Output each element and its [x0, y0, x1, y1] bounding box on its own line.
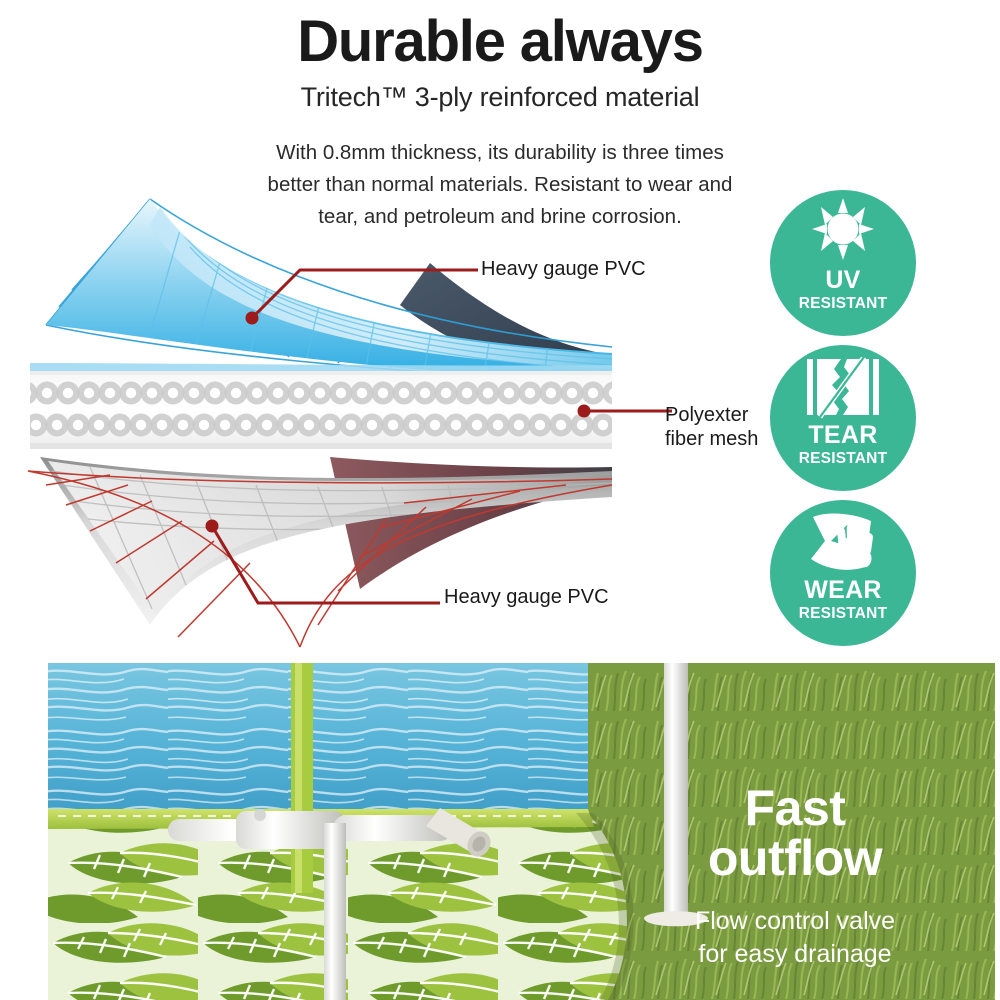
photo-overlay-subtitle-line2: for easy drainage: [615, 938, 975, 971]
badge-wear-resistant: WEAR RESISTANT: [770, 500, 916, 646]
hand-wiping-cloth-icon: [770, 506, 916, 580]
photo-overlay-subtitle: Flow control valve for easy drainage: [615, 905, 975, 970]
material-cross-section-diagram: [0, 185, 770, 655]
photo-overlay-title-line2: outflow: [615, 833, 975, 883]
callout-label-bottom-pvc: Heavy gauge PVC: [444, 586, 609, 610]
sun-icon: [770, 196, 916, 270]
badge-subtitle: RESISTANT: [799, 450, 888, 467]
badge-subtitle: RESISTANT: [799, 605, 888, 622]
badge-tear-resistant: TEAR RESISTANT: [770, 345, 916, 491]
fiber-mesh-bottom-edge: [30, 443, 612, 449]
pool-vertical-leg-center: [324, 823, 346, 1000]
callout-dot-middle: [578, 405, 591, 418]
page-subtitle: Tritech™ 3-ply reinforced material: [0, 82, 1000, 113]
callout-label-top-pvc: Heavy gauge PVC: [481, 258, 646, 282]
photo-overlay-subtitle-line1: Flow control valve: [615, 905, 975, 938]
badge-title: TEAR: [808, 423, 877, 448]
callout-dot-bottom: [206, 520, 219, 533]
badge-subtitle: RESISTANT: [799, 295, 888, 312]
callout-label-fiber-mesh: Polyexter fiber mesh: [665, 404, 758, 451]
photo-overlay-title-line1: Fast: [615, 783, 975, 833]
fiber-mesh-top-edge: [30, 371, 612, 375]
badge-title: WEAR: [804, 578, 882, 603]
callout-dot-top: [246, 312, 259, 325]
photo-overlay-title: Fast outflow: [615, 783, 975, 883]
pool-water-ripples: [48, 663, 648, 818]
product-infographic: Durable always Tritech™ 3-ply reinforced…: [0, 0, 1000, 1000]
torn-fabric-icon: [770, 351, 916, 425]
badge-title: UV: [825, 268, 860, 293]
page-title: Durable always: [0, 12, 1000, 73]
pool-green-pole-highlight: [295, 663, 302, 893]
pool-connector-pin: [254, 809, 266, 821]
badge-uv-resistant: UV RESISTANT: [770, 190, 916, 336]
